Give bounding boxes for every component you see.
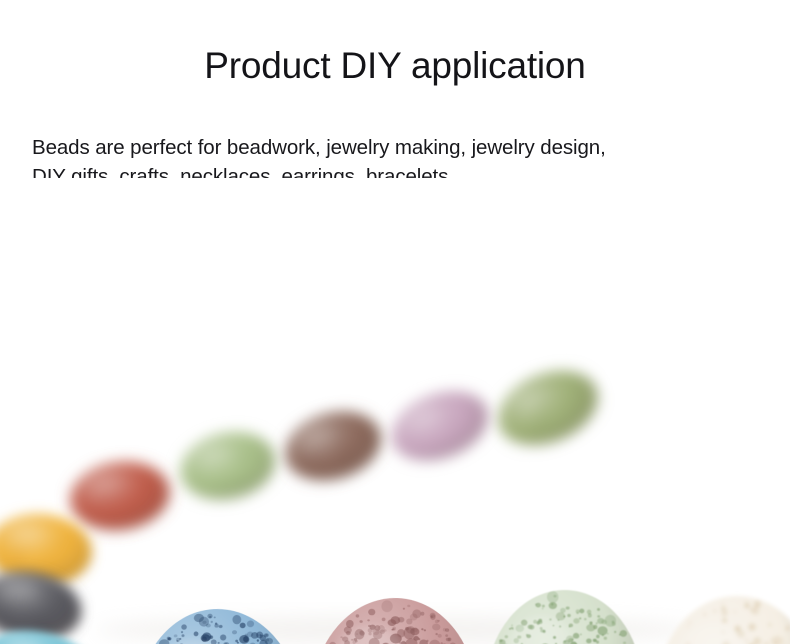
product-diy-application-banner: Product DIY application Beads are perfec… xyxy=(0,0,790,644)
page-title: Product DIY application xyxy=(0,45,790,88)
bead-photo-canvas xyxy=(0,178,790,644)
description-line-1: Beads are perfect for beadwork, jewelry … xyxy=(32,133,758,162)
lava-bead-strand-photo xyxy=(0,178,790,644)
